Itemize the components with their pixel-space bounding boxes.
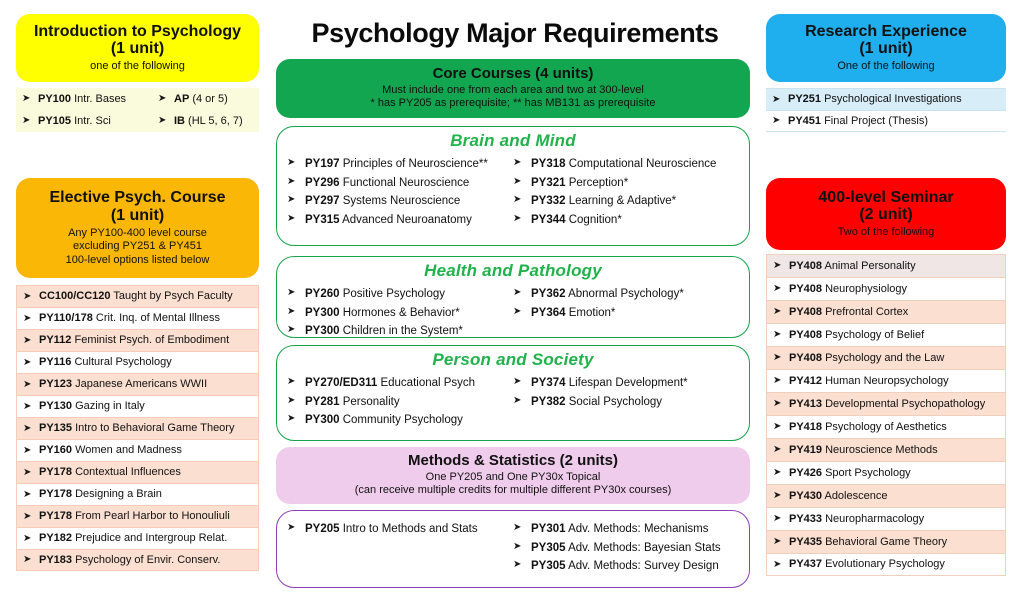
arrow-bullet-icon: ➤ [287,286,305,301]
methods-sub2: (can receive multiple credits for multip… [355,484,672,497]
core-header-pill: Core Courses (4 units) Must include one … [276,59,750,118]
arrow-bullet-icon: ➤ [513,156,531,171]
course-code: PY318 [531,158,566,170]
list-item[interactable]: ➤PY182 Prejudice and Intergroup Relat. [16,527,259,549]
list-item[interactable]: ➤CC100/CC120 Taught by Psych Faculty [16,285,259,307]
course-code: PY321 [531,177,566,189]
course-code: PY382 [531,396,566,408]
methods-course-box: ➤PY205 Intro to Methods and Stats➤PY301 … [276,510,750,588]
course-entry: PY178 From Pearl Harbor to Honouliuli [39,510,256,523]
course-entry: PY408 Neurophysiology [789,283,1003,296]
list-item[interactable]: ➤PY251 Psychological Investigations [766,88,1006,110]
course-entry: PY413 Developmental Psychopathology [789,398,1003,411]
course-code: PY419 [789,444,822,456]
arrow-bullet-icon: ➤ [287,212,305,227]
arrow-bullet-icon: ➤ [287,394,305,409]
course-entry: PY426 Sport Psychology [789,467,1003,480]
course-code: PY300 [305,307,340,319]
elective-title-line1: Elective Psych. Course [49,189,225,206]
course-code: PY301 [531,523,566,535]
arrow-bullet-icon: ➤ [513,375,531,390]
list-item[interactable]: ➤PY305 Adv. Methods: Bayesian Stats [513,540,739,557]
arrow-bullet-icon: ➤ [773,399,789,409]
course-code: PY408 [789,283,822,295]
list-item[interactable]: ➤PY426 Sport Psychology [766,461,1006,484]
course-entry: PY297 Systems Neuroscience [305,193,513,210]
course-entry: PY419 Neuroscience Methods [789,444,1003,457]
course-code: PY305 [531,542,566,554]
elective-course-list: ➤CC100/CC120 Taught by Psych Faculty➤PY1… [16,285,259,571]
arrow-bullet-icon: ➤ [22,94,38,104]
course-entry: PY374 Lifespan Development* [531,375,739,392]
research-course-list: ➤PY251 Psychological Investigations➤PY45… [766,88,1006,132]
arrow-bullet-icon: ➤ [773,468,789,478]
course-entry: PY296 Functional Neuroscience [305,175,513,192]
seminar-title-line1: 400-level Seminar [818,189,953,206]
course-entry: PY305 Adv. Methods: Survey Design [531,558,739,575]
list-item[interactable]: ➤PY270/ED311 Educational Psych [287,375,513,392]
course-entry: PY105 Intr. Sci [38,115,158,128]
methods-sub1: One PY205 and One PY30x Topical [426,471,601,484]
course-code: PY281 [305,396,340,408]
list-item[interactable]: ➤PY301 Adv. Methods: Mechanisms [513,521,739,538]
course-entry: PY382 Social Psychology [531,394,739,411]
core-area-title: Health and Pathology [277,261,749,281]
list-item[interactable]: ➤PY260 Positive Psychology [287,286,513,303]
list-item[interactable]: ➤PY418 Psychology of Aesthetics [766,415,1006,438]
arrow-bullet-icon: ➤ [23,336,39,346]
course-entry: PY315 Advanced Neuroanatomy [305,212,513,229]
course-code: PY430 [789,490,822,502]
course-code: PY112 [39,334,71,346]
list-item[interactable]: ➤PY433 Neuropharmacology [766,507,1006,530]
list-item[interactable]: ➤PY344 Cognition* [513,212,739,229]
course-entry: PY251 Psychological Investigations [788,93,1004,106]
elective-header-pill: Elective Psych. Course (1 unit) Any PY10… [16,178,259,278]
course-code: PY451 [788,115,821,127]
arrow-bullet-icon: ➤ [287,193,305,208]
core-sub2: * has PY205 as prerequisite; ** has MB13… [371,97,656,110]
arrow-bullet-icon: ➤ [23,402,39,412]
list-item[interactable]: ➤PY300 Hormones & Behavior* [287,305,513,322]
arrow-bullet-icon: ➤ [23,490,39,500]
course-column-right: ➤PY301 Adv. Methods: Mechanisms➤PY305 Ad… [513,519,739,577]
arrow-bullet-icon: ➤ [23,424,39,434]
course-entry: PY408 Prefrontal Cortex [789,306,1003,319]
arrow-bullet-icon: ➤ [23,314,39,324]
list-item[interactable]: ➤PY413 Developmental Psychopathology [766,392,1006,415]
course-entry: PY433 Neuropharmacology [789,513,1003,526]
list-item[interactable]: ➤PY437 Evolutionary Psychology [766,553,1006,576]
list-item[interactable]: ➤PY362 Abnormal Psychology* [513,286,739,303]
list-item[interactable]: ➤PY116 Cultural Psychology [16,351,259,373]
seminar-course-list: ➤PY408 Animal Personality➤PY408 Neurophy… [766,254,1006,576]
course-column-right: ➤PY362 Abnormal Psychology*➤PY364 Emotio… [513,284,739,342]
table-row[interactable]: ➤PY105 Intr. Sci➤IB (HL 5, 6, 7) [16,110,259,132]
course-entry: PY300 Children in the System* [305,323,513,340]
list-item[interactable]: ➤PY412 Human Neuropsychology [766,369,1006,392]
list-item[interactable]: ➤PY205 Intro to Methods and Stats [287,521,513,538]
course-entry: PY130 Gazing in Italy [39,400,256,413]
list-item[interactable]: ➤PY112 Feminist Psych. of Embodiment [16,329,259,351]
course-code: PY116 [39,356,71,368]
course-code: PY305 [531,560,566,572]
course-code: PY123 [39,378,72,390]
course-column-left: ➤PY197 Principles of Neuroscience**➤PY29… [287,154,513,231]
course-code: PY178 [39,488,72,500]
course-entry: PY435 Behavioral Game Theory [789,536,1003,549]
list-item[interactable]: ➤PY408 Psychology of Belief [766,323,1006,346]
arrow-bullet-icon: ➤ [513,305,531,320]
core-area-title: Person and Society [277,350,749,370]
course-entry: PY301 Adv. Methods: Mechanisms [531,521,739,538]
course-code: PY300 [305,414,340,426]
arrow-bullet-icon: ➤ [773,422,789,432]
course-entry: IB (HL 5, 6, 7) [174,115,257,128]
course-entry: PY116 Cultural Psychology [39,356,256,369]
course-column-right: ➤PY374 Lifespan Development*➤PY382 Socia… [513,373,739,431]
course-entry: PY305 Adv. Methods: Bayesian Stats [531,540,739,557]
course-code: PY183 [39,554,72,566]
arrow-bullet-icon: ➤ [773,307,789,317]
course-code: PY130 [39,400,72,412]
elective-sub3: 100-level options listed below [66,254,210,267]
course-entry: PY344 Cognition* [531,212,739,229]
arrow-bullet-icon: ➤ [513,540,531,555]
course-code: PY110/178 [39,312,93,324]
course-code: PY412 [789,375,822,387]
course-entry: PY321 Perception* [531,175,739,192]
course-entry: PY408 Psychology and the Law [789,352,1003,365]
course-code: PY315 [305,214,340,226]
course-entry: PY408 Animal Personality [789,260,1003,273]
core-area-title: Brain and Mind [277,131,749,151]
arrow-bullet-icon: ➤ [773,330,789,340]
course-column-left: ➤PY270/ED311 Educational Psych➤PY281 Per… [287,373,513,431]
core-area-person-and-society: Person and Society ➤PY270/ED311 Educatio… [276,345,750,441]
course-code: PY408 [789,306,822,318]
core-area-health-and-pathology: Health and Pathology ➤PY260 Positive Psy… [276,256,750,338]
table-row[interactable]: ➤PY100 Intr. Bases➤AP (4 or 5) [16,88,259,110]
course-code: PY135 [39,422,72,434]
course-entry: PY300 Hormones & Behavior* [305,305,513,322]
list-item[interactable]: ➤PY110/178 Crit. Inq. of Mental Illness [16,307,259,329]
list-item[interactable]: ➤PY382 Social Psychology [513,394,739,411]
list-item[interactable]: ➤PY178 Contextual Influences [16,461,259,483]
arrow-bullet-icon: ➤ [23,358,39,368]
list-item[interactable]: ➤PY332 Learning & Adaptive* [513,193,739,210]
seminar-header-pill: 400-level Seminar (2 unit) Two of the fo… [766,178,1006,250]
page-title: Psychology Major Requirements [270,18,760,49]
arrow-bullet-icon: ➤ [513,175,531,190]
methods-title: Methods & Statistics (2 units) [408,453,618,470]
arrow-bullet-icon: ➤ [287,175,305,190]
research-subtitle: One of the following [837,60,934,73]
course-code: PY433 [789,513,822,525]
course-entry: PY418 Psychology of Aesthetics [789,421,1003,434]
seminar-title-line2: (2 unit) [859,206,912,223]
list-item[interactable]: ➤PY305 Adv. Methods: Survey Design [513,558,739,575]
list-item[interactable]: ➤PY123 Japanese Americans WWII [16,373,259,395]
course-code: PY260 [305,288,340,300]
list-item[interactable]: ➤PY296 Functional Neuroscience [287,175,513,192]
course-entry: PY183 Psychology of Envir. Conserv. [39,554,256,567]
course-code: PY182 [39,532,72,544]
course-entry: PY408 Psychology of Belief [789,329,1003,342]
research-header-pill: Research Experience (1 unit) One of the … [766,14,1006,82]
course-column-right: ➤PY318 Computational Neuroscience➤PY321 … [513,154,739,231]
arrow-bullet-icon: ➤ [23,380,39,390]
course-entry: CC100/CC120 Taught by Psych Faculty [39,290,256,303]
course-code: PY197 [305,158,340,170]
course-entry: PY205 Intro to Methods and Stats [305,521,513,538]
course-entry: PY178 Contextual Influences [39,466,256,479]
course-entry: PY318 Computational Neuroscience [531,156,739,173]
list-item[interactable]: ➤PY300 Children in the System* [287,323,513,340]
seminar-subtitle: Two of the following [838,226,935,239]
arrow-bullet-icon: ➤ [287,305,305,320]
list-item[interactable]: ➤PY408 Prefrontal Cortex [766,300,1006,323]
course-entry: PY178 Designing a Brain [39,488,256,501]
arrow-bullet-icon: ➤ [23,446,39,456]
intro-title-line1: Introduction to Psychology [34,23,241,40]
arrow-bullet-icon: ➤ [287,375,305,390]
course-entry: PY300 Community Psychology [305,412,513,429]
arrow-bullet-icon: ➤ [23,512,39,522]
course-code: PY270/ED311 [305,377,377,389]
course-entry: PY281 Personality [305,394,513,411]
course-code: PY344 [531,214,566,226]
course-code: AP [174,93,189,105]
list-item[interactable]: ➤PY364 Emotion* [513,305,739,322]
course-code: PY437 [789,558,822,570]
course-entry: PY332 Learning & Adaptive* [531,193,739,210]
arrow-bullet-icon: ➤ [287,156,305,171]
elective-sub1: Any PY100-400 level course [68,227,207,240]
course-code: PY408 [789,260,822,272]
arrow-bullet-icon: ➤ [287,521,305,536]
list-item[interactable]: ➤PY297 Systems Neuroscience [287,193,513,210]
arrow-bullet-icon: ➤ [773,514,789,524]
course-entry: PY364 Emotion* [531,305,739,322]
arrow-bullet-icon: ➤ [23,468,39,478]
list-item[interactable]: ➤PY315 Advanced Neuroanatomy [287,212,513,229]
course-entry: PY260 Positive Psychology [305,286,513,303]
course-entry: PY362 Abnormal Psychology* [531,286,739,303]
list-item[interactable]: ➤PY178 From Pearl Harbor to Honouliuli [16,505,259,527]
list-item[interactable]: ➤PY374 Lifespan Development* [513,375,739,392]
arrow-bullet-icon: ➤ [773,537,789,547]
course-code: PY413 [789,398,822,410]
core-area-brain-and-mind: Brain and Mind ➤PY197 Principles of Neur… [276,126,750,246]
list-item[interactable]: ➤PY435 Behavioral Game Theory [766,530,1006,553]
arrow-bullet-icon: ➤ [773,445,789,455]
course-entry: PY270/ED311 Educational Psych [305,375,513,392]
arrow-bullet-icon: ➤ [513,394,531,409]
list-item[interactable]: ➤PY318 Computational Neuroscience [513,156,739,173]
course-entry: AP (4 or 5) [174,93,257,106]
arrow-bullet-icon: ➤ [22,116,38,126]
list-item[interactable]: ➤PY419 Neuroscience Methods [766,438,1006,461]
elective-sub2: excluding PY251 & PY451 [73,240,202,253]
course-entry: PY135 Intro to Behavioral Game Theory [39,422,256,435]
course-code: PY296 [305,177,340,189]
arrow-bullet-icon: ➤ [772,116,788,126]
poster-canvas: Introduction to Psychology (1 unit) one … [0,0,1024,603]
list-item[interactable]: ➤PY130 Gazing in Italy [16,395,259,417]
list-item[interactable]: ➤PY281 Personality [287,394,513,411]
list-item[interactable]: ➤PY135 Intro to Behavioral Game Theory [16,417,259,439]
course-column-left: ➤PY205 Intro to Methods and Stats [287,519,513,577]
course-entry: PY110/178 Crit. Inq. of Mental Illness [39,312,256,325]
intro-course-list: ➤PY100 Intr. Bases➤AP (4 or 5)➤PY105 Int… [16,88,259,132]
intro-title-line2: (1 unit) [111,40,164,57]
course-code: PY408 [789,352,822,364]
list-item[interactable]: ➤PY408 Animal Personality [766,254,1006,277]
course-code: PY297 [305,195,340,207]
arrow-bullet-icon: ➤ [158,116,174,126]
arrow-bullet-icon: ➤ [23,534,39,544]
course-entry: PY430 Adolescence [789,490,1003,503]
list-item[interactable]: ➤PY178 Designing a Brain [16,483,259,505]
course-entry: PY197 Principles of Neuroscience** [305,156,513,173]
arrow-bullet-icon: ➤ [513,521,531,536]
course-entry: PY112 Feminist Psych. of Embodiment [39,334,256,347]
course-code: PY251 [788,93,821,105]
arrow-bullet-icon: ➤ [773,491,789,501]
arrow-bullet-icon: ➤ [513,193,531,208]
course-entry: PY160 Women and Madness [39,444,256,457]
course-code: PY332 [531,195,566,207]
arrow-bullet-icon: ➤ [287,412,305,427]
list-item[interactable]: ➤PY408 Neurophysiology [766,277,1006,300]
course-code: PY362 [531,288,566,300]
course-code: PY426 [789,467,822,479]
course-code: PY100 [38,93,71,105]
core-title: Core Courses (4 units) [433,66,594,83]
list-item[interactable]: ➤PY183 Psychology of Envir. Conserv. [16,549,259,571]
arrow-bullet-icon: ➤ [287,323,305,338]
core-sub1: Must include one from each area and two … [382,84,644,97]
list-item[interactable]: ➤PY197 Principles of Neuroscience** [287,156,513,173]
list-item[interactable]: ➤PY408 Psychology and the Law [766,346,1006,369]
arrow-bullet-icon: ➤ [23,555,39,565]
list-item[interactable]: ➤PY430 Adolescence [766,484,1006,507]
research-title-line1: Research Experience [805,23,967,40]
arrow-bullet-icon: ➤ [772,95,788,105]
course-column-left: ➤PY260 Positive Psychology➤PY300 Hormone… [287,284,513,342]
arrow-bullet-icon: ➤ [23,292,39,302]
list-item[interactable]: ➤PY300 Community Psychology [287,412,513,429]
elective-title-line2: (1 unit) [111,207,164,224]
course-entry: PY123 Japanese Americans WWII [39,378,256,391]
course-entry: PY451 Final Project (Thesis) [788,115,1004,128]
course-code: PY408 [789,329,822,341]
arrow-bullet-icon: ➤ [513,286,531,301]
methods-header-pill: Methods & Statistics (2 units) One PY205… [276,447,750,504]
course-code: PY105 [38,115,71,127]
course-code: CC100/CC120 [39,290,111,302]
arrow-bullet-icon: ➤ [773,353,789,363]
course-code: PY418 [789,421,822,433]
intro-header-pill: Introduction to Psychology (1 unit) one … [16,14,259,82]
course-code: PY435 [789,536,822,548]
course-code: PY205 [305,523,340,535]
course-code: IB [174,115,185,127]
research-title-line2: (1 unit) [859,40,912,57]
arrow-bullet-icon: ➤ [773,560,789,570]
list-item[interactable]: ➤PY451 Final Project (Thesis) [766,110,1006,132]
arrow-bullet-icon: ➤ [158,94,174,104]
course-code: PY178 [39,510,72,522]
course-entry: PY182 Prejudice and Intergroup Relat. [39,532,256,545]
arrow-bullet-icon: ➤ [513,212,531,227]
course-code: PY160 [39,444,72,456]
arrow-bullet-icon: ➤ [773,261,789,271]
arrow-bullet-icon: ➤ [773,284,789,294]
course-entry: PY437 Evolutionary Psychology [789,558,1003,571]
course-code: PY300 [305,325,340,337]
course-code: PY364 [531,307,566,319]
course-entry: PY412 Human Neuropsychology [789,375,1003,388]
list-item[interactable]: ➤PY160 Women and Madness [16,439,259,461]
list-item[interactable]: ➤PY321 Perception* [513,175,739,192]
course-entry: PY100 Intr. Bases [38,93,158,106]
arrow-bullet-icon: ➤ [773,376,789,386]
arrow-bullet-icon: ➤ [513,558,531,573]
course-code: PY178 [39,466,72,478]
course-code: PY374 [531,377,566,389]
intro-subtitle: one of the following [90,60,185,73]
